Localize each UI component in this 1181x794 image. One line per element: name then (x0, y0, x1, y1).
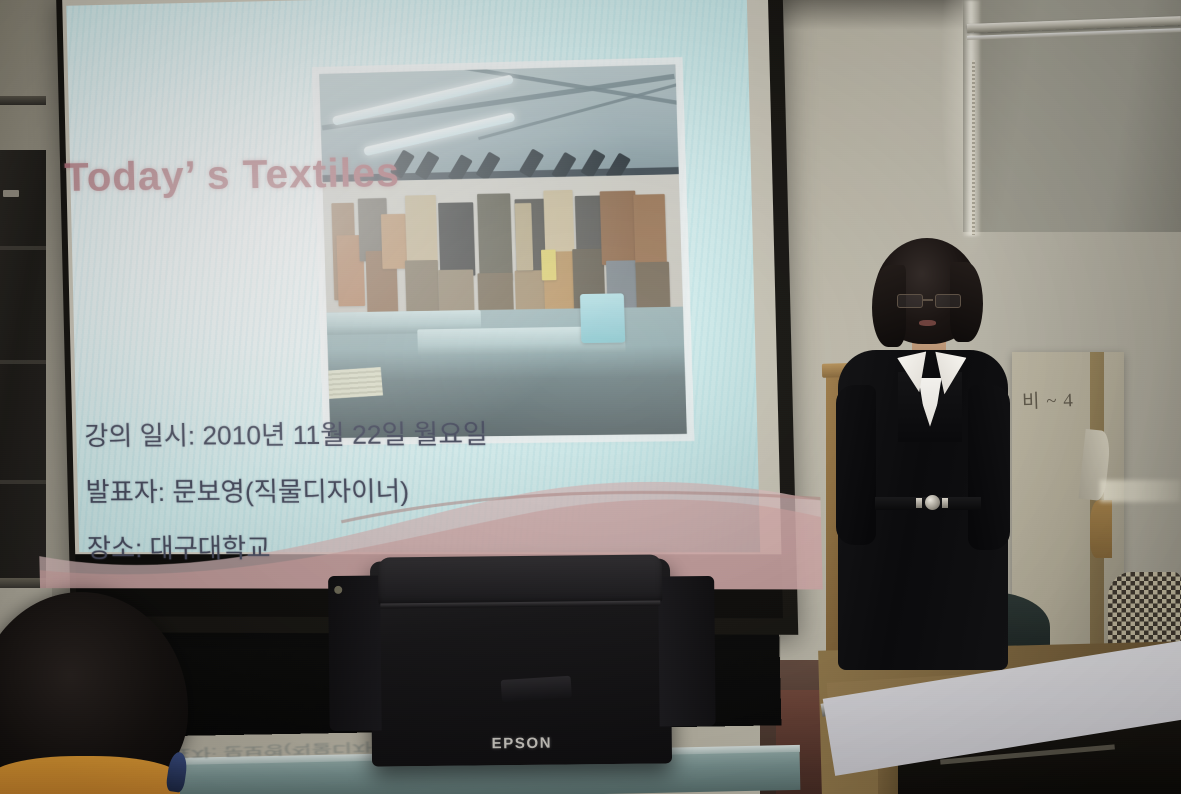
presenter-arm-right (968, 385, 1010, 550)
bag-flap (378, 555, 662, 606)
belt-buckle-icon (916, 493, 948, 513)
slide-line-speaker: 발표자: 문보영(직물디자이너) (85, 471, 409, 509)
cabinet-label (3, 190, 19, 197)
slide-line-venue: 장소: 대구대학교 (87, 528, 271, 565)
houndstooth-cloth (1108, 572, 1181, 652)
epson-projector-bag: EPSON (370, 558, 672, 766)
bag-zipper-pull (334, 586, 342, 594)
bag-side-right (658, 576, 716, 727)
slide-embedded-photo (319, 64, 687, 438)
projection-screen: Today’ s Textiles 강의 일시: 2010년 11월 22일 월… (56, 0, 798, 635)
wall-light-streak (1100, 480, 1181, 502)
audience-orange-clothing (0, 756, 180, 794)
epson-logo: EPSON (372, 733, 672, 753)
presenter-arm-left (836, 385, 876, 545)
presenter-mouth (919, 320, 936, 326)
cabinet-base (0, 578, 46, 588)
bag-strap (501, 676, 572, 702)
photograph-scene: 비 ~ 4 (0, 0, 1181, 794)
blind-cord (972, 60, 975, 235)
cabinet-shelf-edge (0, 96, 46, 105)
flipchart-handwriting: 비 ~ 4 (1022, 385, 1075, 414)
bag-side-left (328, 575, 382, 731)
glasses-icon (897, 294, 959, 306)
slide-line-date: 강의 일시: 2010년 11월 22일 월요일 (84, 414, 488, 453)
slide-title: Today’ s Textiles (64, 150, 401, 201)
slide-surface: Today’ s Textiles 강의 일시: 2010년 11월 22일 월… (66, 0, 760, 552)
dark-cabinet (0, 150, 46, 620)
flipchart-torn-sheet (1090, 500, 1112, 558)
